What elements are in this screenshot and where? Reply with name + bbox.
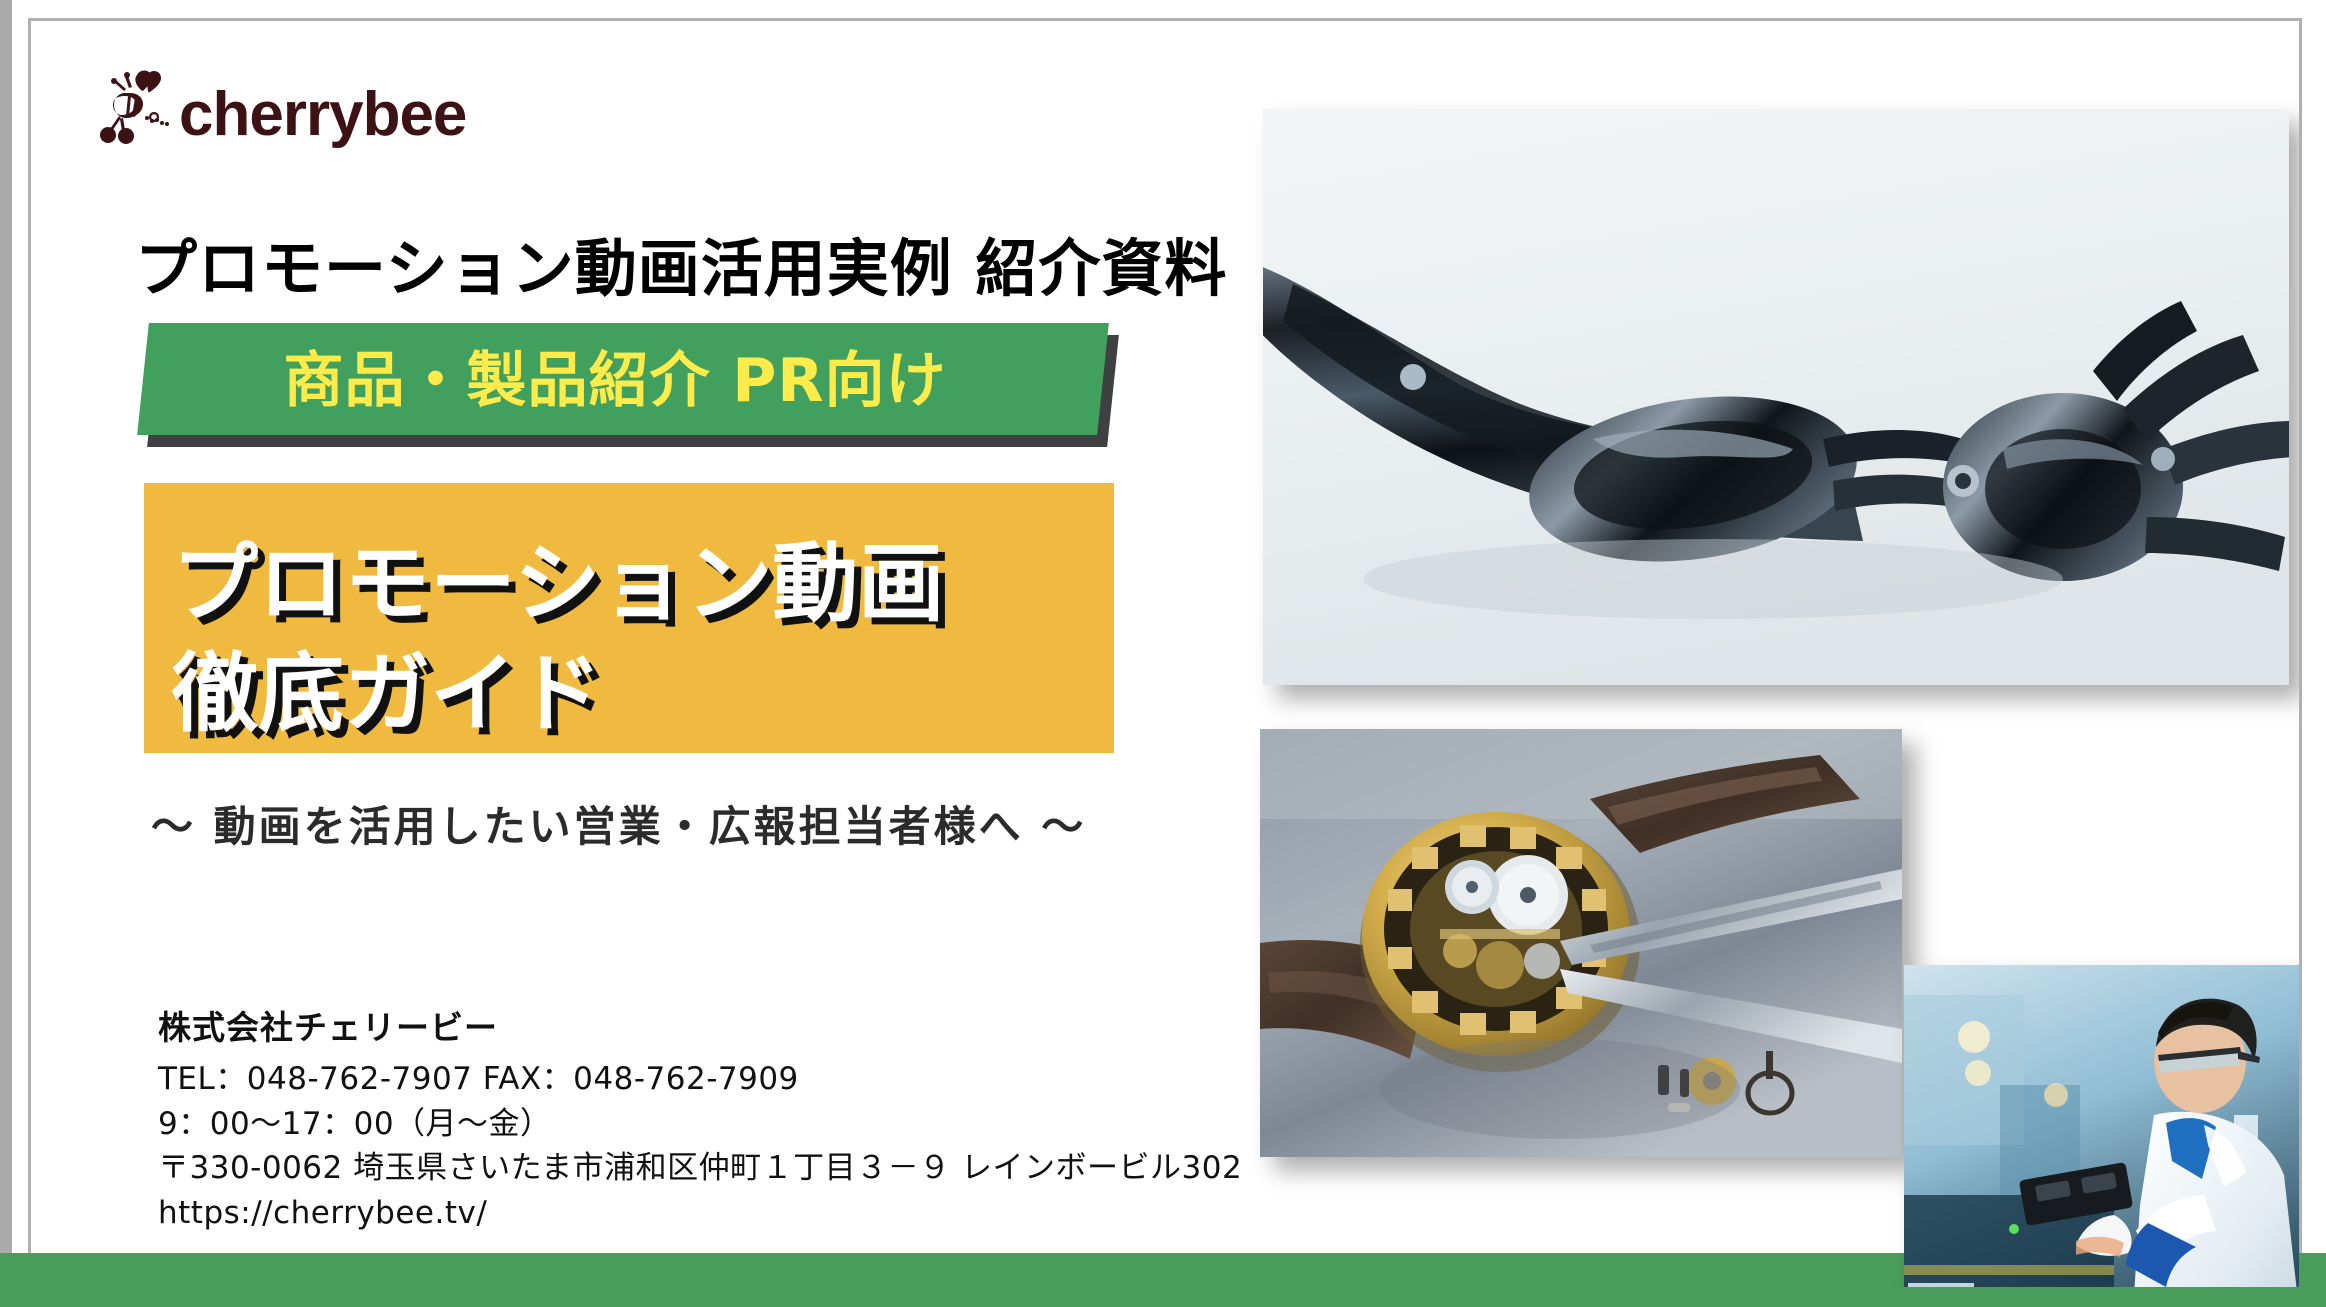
title-box: プロモーション動画 徹底ガイド (144, 483, 1114, 753)
brand-logo-text: cherrybee (179, 85, 466, 145)
title-box-line-2: 徹底ガイド (172, 623, 602, 748)
robot-handshake-photo (1263, 109, 2289, 685)
slide-page: cherrybee プロモーション動画活用実例 紹介資料 商品・製品紹介 PR向… (0, 0, 2326, 1307)
page-left-margin (0, 0, 12, 1307)
title-box-line-1: プロモーション動画 (172, 513, 944, 638)
website-link[interactable]: https://cherrybee.tv/ (158, 1191, 1242, 1236)
phone-line: TEL：048-762-7907 FAX：048-762-7909 (158, 1057, 1242, 1102)
contact-block: 株式会社チェリービー TEL：048-762-7907 FAX：048-762-… (158, 1001, 1242, 1236)
category-banner-label: 商品・製品紹介 PR向け (135, 319, 1095, 431)
company-name: 株式会社チェリービー (158, 1001, 1242, 1049)
category-banner: 商品・製品紹介 PR向け (135, 319, 1125, 445)
bee-cherry-icon (99, 69, 173, 145)
page-title: プロモーション動画活用実例 紹介資料 (135, 218, 1227, 308)
business-hours-line: 9：00〜17：00（月〜金） (158, 1102, 1242, 1147)
brand-logo[interactable]: cherrybee (99, 69, 466, 145)
address-line: 〒330-0062 埼玉県さいたま市浦和区仲町１丁目３－９ レインボービル302 (158, 1146, 1242, 1191)
slide-canvas: cherrybee プロモーション動画活用実例 紹介資料 商品・製品紹介 PR向… (28, 18, 2302, 1290)
watch-repair-photo (1260, 729, 1902, 1157)
subtitle: 〜 動画を活用したい営業・広報担当者様へ 〜 (151, 793, 1086, 854)
factory-worker-photo (1904, 965, 2302, 1290)
